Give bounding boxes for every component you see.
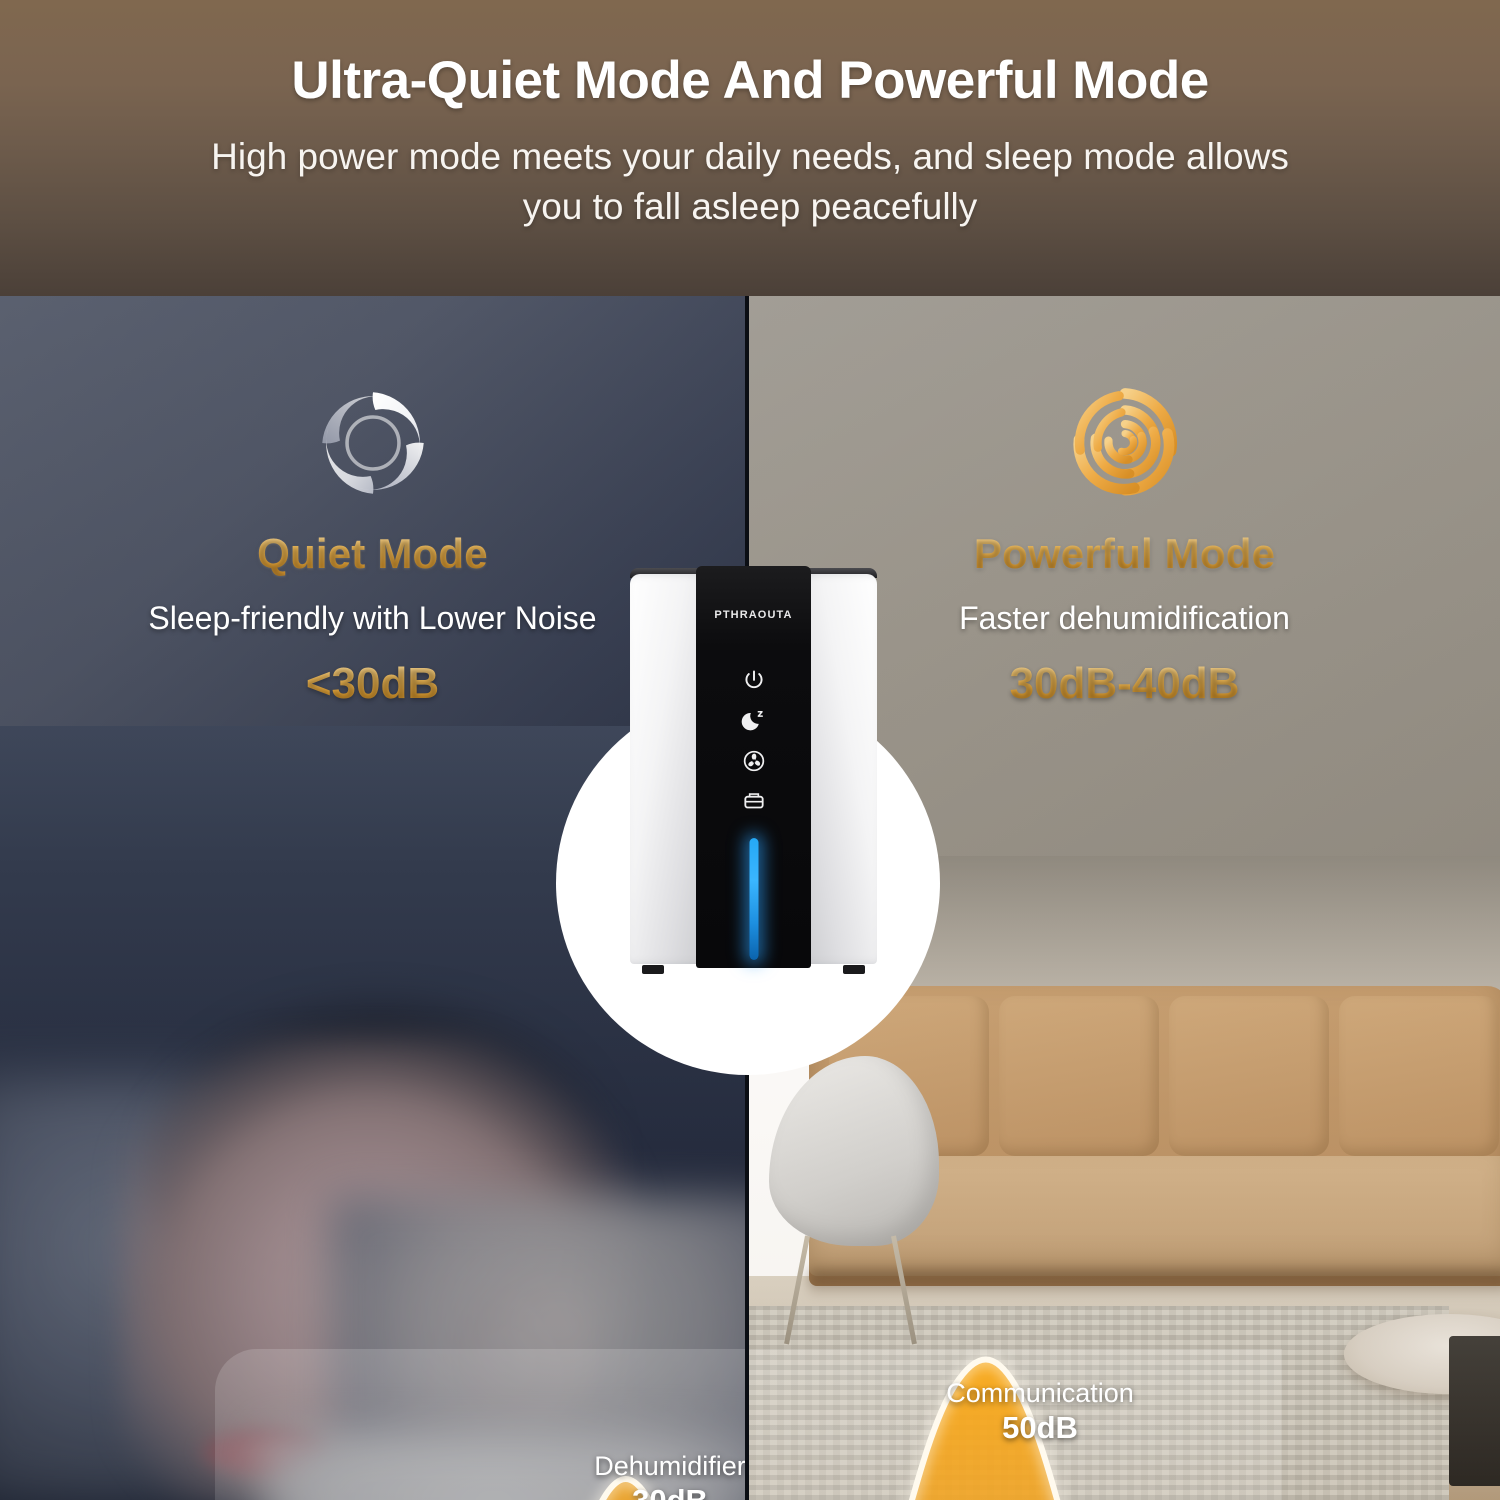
led-indicator-bar <box>749 838 758 960</box>
header-banner: Ultra-Quiet Mode And Powerful Mode High … <box>0 0 1500 296</box>
water-tank-icon[interactable] <box>741 788 767 814</box>
product-brand-label: PTHRAOUTA <box>696 609 811 621</box>
quiet-mode-description: Sleep-friendly with Lower Noise <box>148 600 596 637</box>
product-foot <box>642 965 664 974</box>
product-control-column: PTHRAOUTA <box>696 566 811 968</box>
chart-label-dehumidifier-value: 30dB <box>555 1484 785 1500</box>
chart-label-dehumidifier: Dehumidifier 30dB <box>555 1451 785 1500</box>
page-subtitle: High power mode meets your daily needs, … <box>180 132 1320 230</box>
promo-image: Ultra-Quiet Mode And Powerful Mode High … <box>0 0 1500 1500</box>
product-showcase: PTHRAOUTA <box>548 561 948 1041</box>
quiet-swirl-icon <box>314 384 432 502</box>
chart-label-communication: Communication 50dB <box>890 1378 1190 1446</box>
chart-label-dehumidifier-name: Dehumidifier <box>555 1451 785 1481</box>
powerful-mode-description: Faster dehumidification <box>959 600 1290 637</box>
quiet-mode-title: Quiet Mode <box>257 530 488 578</box>
powerful-spiral-icon <box>1066 384 1184 502</box>
page-title: Ultra-Quiet Mode And Powerful Mode <box>291 52 1208 110</box>
dehumidifier-product: PTHRAOUTA <box>626 566 881 966</box>
powerful-mode-title: Powerful Mode <box>974 530 1275 578</box>
sleep-moon-icon[interactable] <box>741 708 767 734</box>
product-foot <box>843 965 865 974</box>
chart-label-communication-value: 50dB <box>890 1411 1190 1446</box>
fan-speed-icon[interactable] <box>741 748 767 774</box>
powerful-mode-db-value: 30dB-40dB <box>1010 659 1240 709</box>
quiet-mode-db-value: <30dB <box>306 659 439 709</box>
power-icon[interactable] <box>741 668 767 694</box>
comparison-stage: Quiet Mode Sleep-friendly with Lower Noi… <box>0 296 1500 1500</box>
chart-label-communication-name: Communication <box>890 1378 1190 1408</box>
